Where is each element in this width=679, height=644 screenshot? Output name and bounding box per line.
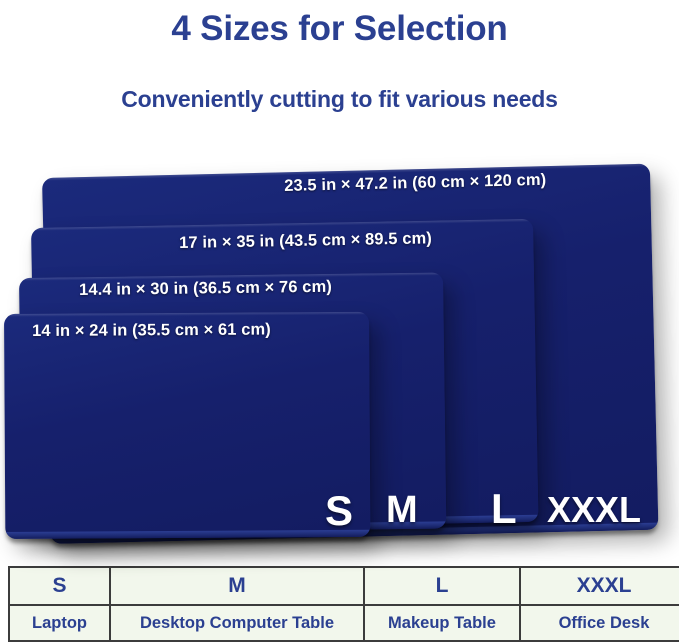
table-cell-size-s: S (9, 567, 110, 605)
size-glyph-xxxl: XXXL (547, 492, 641, 528)
table-cell-use-l: Makeup Table (364, 605, 520, 641)
dimension-label-s: 14 in × 24 in (35.5 cm × 61 cm) (32, 321, 271, 341)
size-glyph-l: L (491, 488, 517, 530)
table-cell-size-xxxl: XXXL (520, 567, 679, 605)
table-cell-size-m: M (110, 567, 364, 605)
mat-size-stack: 23.5 in × 47.2 in (60 cm × 120 cm) 17 in… (0, 0, 679, 560)
product-size-infographic: 4 Sizes for Selection Conveniently cutti… (0, 0, 679, 644)
dimension-label-m: 14.4 in × 30 in (36.5 cm × 76 cm) (79, 278, 332, 300)
table-row-sizes: S M L XXXL (9, 567, 679, 605)
table-row-uses: Laptop Desktop Computer Table Makeup Tab… (9, 605, 679, 641)
size-glyph-s: S (325, 490, 353, 532)
table-cell-use-xxxl: Office Desk (520, 605, 679, 641)
size-glyph-m: M (386, 491, 418, 529)
table-cell-size-l: L (364, 567, 520, 605)
table-cell-use-s: Laptop (9, 605, 110, 641)
size-usage-table: S M L XXXL Laptop Desktop Computer Table… (8, 566, 679, 642)
table-cell-use-m: Desktop Computer Table (110, 605, 364, 641)
mat-s (4, 312, 370, 539)
